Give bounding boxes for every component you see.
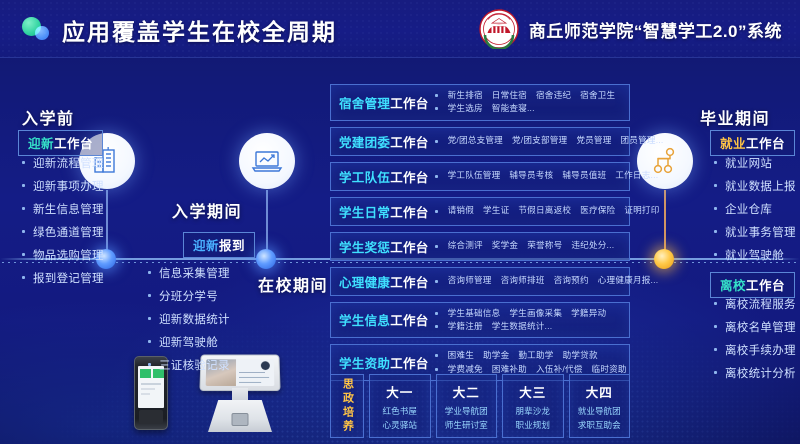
timeline-node-graduation[interactable] [654, 249, 674, 269]
workbench-item[interactable]: 辅导员值班 [562, 169, 606, 182]
university-emblem-icon [479, 9, 519, 49]
workbench-card-key: 宿舍管理 [339, 97, 390, 111]
workbench-item[interactable]: 违纪处分... [571, 239, 614, 252]
list-item[interactable]: 就业网站 [712, 155, 796, 171]
year-box[interactable]: 大三朋辈沙龙职业规划 [502, 374, 564, 438]
laptop-chart-icon-circle [239, 133, 295, 189]
workbench-item[interactable]: 奖学金 [492, 239, 518, 252]
workbench-item[interactable]: 咨询师排班 [501, 274, 545, 287]
badge-pre-workbench[interactable]: 迎新工作台 [18, 130, 103, 156]
workbench-card-list: 宿舍管理工作台新生排宿日常住宿宿舍违纪宿舍卫生学生选房智能查寝...党建团委工作… [330, 84, 630, 387]
workbench-item[interactable]: 智能查寝... [492, 102, 535, 115]
workbench-item[interactable]: 困难生 [448, 349, 474, 362]
list-item[interactable]: 分班分学号 [146, 288, 230, 304]
bullet-dot-icon [435, 312, 438, 315]
bullet-dot-icon [435, 210, 438, 213]
workbench-card-suffix: 工作台 [390, 276, 428, 290]
badge-leaving-workbench[interactable]: 离校工作台 [710, 272, 795, 298]
list-item[interactable]: 迎新事项办理 [20, 178, 104, 194]
list-item[interactable]: 离校流程服务 [712, 296, 796, 312]
year-item[interactable]: 师生研讨室 [445, 419, 488, 432]
list-item[interactable]: 就业驾驶舱 [712, 247, 796, 263]
workbench-card[interactable]: 学生奖惩工作台综合测评奖学金荣誉称号违纪处分... [330, 232, 630, 261]
workbench-card-row: 新生排宿日常住宿宿舍违纪宿舍卫生 [435, 89, 622, 102]
workbench-card-suffix: 工作台 [390, 314, 428, 328]
year-item[interactable]: 心灵驿站 [383, 419, 417, 432]
workbench-item[interactable]: 党/团总支管理 [448, 134, 503, 147]
workbench-card-key: 心理健康 [339, 276, 390, 290]
phase-heading-pre: 入学前 [22, 105, 75, 129]
workbench-item[interactable]: 助学金 [483, 349, 509, 362]
year-strip: 思政培养 大一红色书屋心灵驿站大二学业导航团师生研讨室大三朋辈沙龙职业规划大四就… [330, 374, 630, 438]
list-item[interactable]: 迎新驾驶舱 [146, 334, 230, 350]
workbench-item[interactable]: 荣誉称号 [527, 239, 562, 252]
workbench-card-suffix: 工作台 [390, 357, 428, 371]
list-item[interactable]: 三证核验记录 [146, 357, 230, 373]
workbench-card-title: 党建团委工作台 [339, 132, 429, 151]
workbench-card-items: 学工队伍管理辅导员考核辅导员值班工作日志... [435, 169, 659, 182]
workbench-card-items: 咨询师管理咨询师排班咨询预约心理健康月报... [435, 274, 659, 287]
list-item[interactable]: 迎新数据统计 [146, 311, 230, 327]
bullet-dot-icon [435, 175, 438, 178]
badge-graduation-highlight: 就业 [720, 137, 746, 151]
badge-employment-workbench[interactable]: 就业工作台 [710, 130, 795, 156]
bullet-dot-icon [435, 94, 438, 97]
workbench-card-row: 学生基础信息学生画像采集学籍异动 [435, 307, 622, 320]
workbench-item[interactable]: 助学贷款 [563, 349, 598, 362]
badge-enroll-highlight: 迎新 [193, 239, 219, 253]
workbench-item[interactable]: 工作日志... [615, 169, 658, 182]
list-pre-items: 迎新流程管理 迎新事项办理 新生信息管理 绿色通道管理 物品选购管理 报到登记管… [20, 155, 104, 293]
ideological-training-label: 思政培养 [342, 378, 353, 434]
year-title: 大三 [519, 382, 546, 401]
bullet-dot-icon [435, 368, 438, 371]
workbench-card[interactable]: 党建团委工作台党/团总支管理党/团支部管理党员管理团员管理... [330, 127, 630, 156]
badge-graduation-suffix: 工作台 [746, 137, 785, 151]
bullet-dot-icon [435, 107, 438, 110]
workbench-item[interactable]: 新生排宿 [448, 89, 483, 102]
list-item[interactable]: 信息采集管理 [146, 265, 230, 281]
system-name: 商丘师范学院“智慧学工2.0”系统 [529, 17, 782, 42]
workbench-card-title: 学生资助工作台 [339, 353, 429, 372]
badge-pre-highlight: 迎新 [28, 137, 54, 151]
workbench-card[interactable]: 宿舍管理工作台新生排宿日常住宿宿舍违纪宿舍卫生学生选房智能查寝... [330, 84, 630, 121]
list-item[interactable]: 就业事务管理 [712, 224, 796, 240]
workbench-card-title: 心理健康工作台 [339, 272, 429, 291]
year-box[interactable]: 大二学业导航团师生研讨室 [436, 374, 498, 438]
year-item[interactable]: 就业导航团 [578, 405, 621, 418]
workbench-card-items: 学生基础信息学生画像采集学籍异动学籍注册学生数据统计... [435, 307, 622, 334]
workbench-item[interactable]: 学生画像采集 [509, 307, 562, 320]
workbench-card-items: 请销假学生证节假日离返校医疗保险证明打印 [435, 204, 660, 217]
workbench-item[interactable]: 学生数据统计... [492, 320, 553, 333]
workbench-item[interactable]: 宿舍违纪 [536, 89, 571, 102]
list-item[interactable]: 企业仓库 [712, 201, 796, 217]
workbench-item[interactable]: 团员管理... [621, 134, 664, 147]
phase-heading-enroll: 入学期间 [172, 198, 242, 222]
workbench-item[interactable]: 证明打印 [624, 204, 659, 217]
badge-pre-suffix: 工作台 [54, 137, 93, 151]
workbench-card-row: 学籍注册学生数据统计... [435, 320, 622, 333]
timeline-node-enroll[interactable] [256, 249, 276, 269]
badge-leaving-highlight: 离校 [720, 279, 746, 293]
list-item[interactable]: 新生信息管理 [20, 201, 104, 217]
list-enroll-items: 信息采集管理 分班分学号 迎新数据统计 迎新驾驶舱 三证核验记录 [146, 265, 230, 380]
workbench-item[interactable]: 党/团支部管理 [512, 134, 567, 147]
badge-enroll-checkin[interactable]: 迎新报到 [183, 232, 255, 258]
workbench-item[interactable]: 医疗保险 [580, 204, 615, 217]
year-box[interactable]: 大一红色书屋心灵驿站 [369, 374, 431, 438]
workbench-card[interactable]: 学工队伍工作台学工队伍管理辅导员考核辅导员值班工作日志... [330, 162, 630, 191]
list-item[interactable]: 离校手续办理 [712, 342, 796, 358]
list-leaving-items: 离校流程服务 离校名单管理 离校手续办理 离校统计分析 [712, 296, 796, 388]
year-item[interactable]: 学业导航团 [445, 405, 488, 418]
workbench-card-row: 党/团总支管理党/团支部管理党员管理团员管理... [435, 134, 664, 147]
workbench-item[interactable]: 学工队伍管理 [448, 169, 501, 182]
workbench-card-key: 学生奖惩 [339, 241, 390, 255]
header-left-group: 应用覆盖学生在校全周期 [22, 13, 337, 47]
year-title: 大二 [453, 382, 480, 401]
page-header: 应用覆盖学生在校全周期 商丘师范学院“智慧学工2.0”系统 [0, 0, 800, 58]
year-item[interactable]: 红色书屋 [383, 405, 417, 418]
workbench-item[interactable]: 咨询预约 [554, 274, 589, 287]
two-circles-logo-icon [22, 17, 52, 43]
list-item[interactable]: 物品选购管理 [20, 247, 104, 263]
bullet-dot-icon [435, 280, 438, 283]
year-title: 大四 [586, 382, 613, 401]
workbench-card-items: 新生排宿日常住宿宿舍违纪宿舍卫生学生选房智能查寝... [435, 89, 622, 116]
workbench-card-key: 学生日常 [339, 206, 390, 220]
workbench-card-suffix: 工作台 [390, 206, 428, 220]
workbench-item[interactable]: 学籍注册 [448, 320, 483, 333]
workbench-card-items: 党/团总支管理党/团支部管理党员管理团员管理... [435, 134, 664, 147]
workbench-card-row: 请销假学生证节假日离返校医疗保险证明打印 [435, 204, 660, 217]
workbench-card-key: 学工队伍 [339, 171, 390, 185]
list-item[interactable]: 绿色通道管理 [20, 224, 104, 240]
phase-heading-graduation: 毕业期间 [700, 105, 770, 129]
workbench-card-title: 学生信息工作台 [339, 310, 429, 329]
list-graduation-items: 就业网站 就业数据上报 企业仓库 就业事务管理 就业驾驶舱 [712, 155, 796, 270]
badge-leaving-suffix: 工作台 [746, 279, 785, 293]
year-item[interactable]: 求职互助会 [578, 419, 621, 432]
bullet-dot-icon [435, 245, 438, 248]
bullet-dot-icon [435, 325, 438, 328]
workbench-card-suffix: 工作台 [390, 171, 428, 185]
laptop-chart-icon [250, 145, 284, 177]
workbench-card-row: 困难生助学金勤工助学助学贷款 [435, 349, 627, 362]
list-item[interactable]: 离校统计分析 [712, 365, 796, 381]
workbench-card-row: 学工队伍管理辅导员考核辅导员值班工作日志... [435, 169, 659, 182]
list-item[interactable]: 迎新流程管理 [20, 155, 104, 171]
phase-heading-on-campus: 在校期间 [258, 272, 328, 296]
workbench-item[interactable]: 学生证 [483, 204, 509, 217]
workbench-card-key: 学生信息 [339, 314, 390, 328]
year-item[interactable]: 职业规划 [516, 419, 550, 432]
workbench-item[interactable]: 辅导员考核 [509, 169, 553, 182]
list-item[interactable]: 离校名单管理 [712, 319, 796, 335]
infographic-canvas: 应用覆盖学生在校全周期 商丘师范学院“智慧学工2.0”系统 [0, 0, 800, 444]
year-box[interactable]: 大四就业导航团求职互助会 [569, 374, 631, 438]
workbench-item[interactable]: 学籍异动 [571, 307, 606, 320]
bullet-dot-icon [435, 354, 438, 357]
workbench-item[interactable]: 学生选房 [448, 102, 483, 115]
workbench-card-title: 宿舍管理工作台 [339, 93, 429, 112]
workbench-card-suffix: 工作台 [390, 241, 428, 255]
workbench-card-items: 困难生助学金勤工助学助学贷款学费减免困难补助入伍补/代偿临时资助 [435, 349, 627, 376]
page-title: 应用覆盖学生在校全周期 [62, 13, 337, 47]
workbench-item[interactable]: 勤工助学 [518, 349, 553, 362]
bullet-dot-icon [435, 140, 438, 143]
workbench-item[interactable]: 节假日离返校 [518, 204, 571, 217]
year-item[interactable]: 朋辈沙龙 [516, 405, 550, 418]
list-item[interactable]: 报到登记管理 [20, 270, 104, 286]
workbench-card[interactable]: 心理健康工作台咨询师管理咨询师排班咨询预约心理健康月报... [330, 267, 630, 296]
workbench-card-row: 咨询师管理咨询师排班咨询预约心理健康月报... [435, 274, 659, 287]
workbench-card-title: 学工队伍工作台 [339, 167, 429, 186]
workbench-item[interactable]: 日常住宿 [492, 89, 527, 102]
year-title: 大一 [386, 382, 413, 401]
ideological-training-box: 思政培养 [330, 374, 364, 438]
workbench-card-suffix: 工作台 [390, 97, 428, 111]
workbench-card-key: 党建团委 [339, 136, 390, 150]
workbench-item[interactable]: 请销假 [448, 204, 474, 217]
workbench-item[interactable]: 学生基础信息 [448, 307, 501, 320]
workbench-card-key: 学生资助 [339, 357, 390, 371]
workbench-card[interactable]: 学生信息工作台学生基础信息学生画像采集学籍异动学籍注册学生数据统计... [330, 302, 630, 339]
workbench-card[interactable]: 学生日常工作台请销假学生证节假日离返校医疗保险证明打印 [330, 197, 630, 226]
workbench-card-title: 学生日常工作台 [339, 202, 429, 221]
workbench-item[interactable]: 综合测评 [448, 239, 483, 252]
timeline-stem-enroll [266, 190, 268, 252]
workbench-card-items: 综合测评奖学金荣誉称号违纪处分... [435, 239, 622, 252]
timeline-stem-graduation [664, 190, 666, 252]
workbench-card-suffix: 工作台 [390, 136, 428, 150]
workbench-item[interactable]: 咨询师管理 [448, 274, 492, 287]
list-item[interactable]: 就业数据上报 [712, 178, 796, 194]
workbench-card-row: 学生选房智能查寝... [435, 102, 622, 115]
workbench-card-row: 综合测评奖学金荣誉称号违纪处分... [435, 239, 622, 252]
workbench-item[interactable]: 宿舍卫生 [580, 89, 615, 102]
workbench-item[interactable]: 心理健康月报... [598, 274, 659, 287]
timeline-stem-pre [106, 190, 108, 252]
badge-enroll-suffix: 报到 [219, 239, 245, 253]
header-right-group: 商丘师范学院“智慧学工2.0”系统 [479, 9, 782, 49]
workbench-card-title: 学生奖惩工作台 [339, 237, 429, 256]
workbench-item[interactable]: 党员管理 [576, 134, 611, 147]
